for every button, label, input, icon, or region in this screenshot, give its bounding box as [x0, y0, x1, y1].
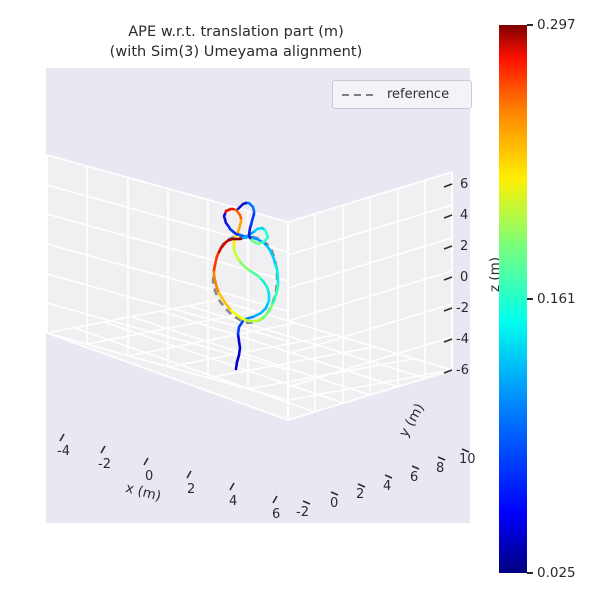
z-tick-label-4: -2 [456, 301, 469, 316]
y-tick-label-5: 8 [436, 461, 444, 476]
z-tick-label-3: 0 [460, 270, 468, 285]
figure-canvas: APE w.r.t. translation part (m) (with Si… [0, 0, 600, 600]
plot-title-line-2: (with Sim(3) Umeyama alignment) [0, 42, 472, 62]
y-tick-label-6: 10 [459, 452, 476, 467]
y-tick-label-2: 2 [356, 487, 364, 502]
z-tick-label-6: -6 [456, 363, 469, 378]
x-tick-label-0: -4 [57, 444, 70, 459]
y-tick-label-0: -2 [296, 505, 309, 520]
colorbar-tick-dash-icon [527, 298, 533, 299]
plot-title-line-1: APE w.r.t. translation part (m) [0, 22, 472, 42]
colorbar-tick-dash-icon [527, 24, 533, 25]
x-tick-label-2: 0 [145, 469, 153, 484]
colorbar-gradient [499, 25, 527, 573]
colorbar-tick-min: 0.025 [527, 565, 576, 581]
x-tick-label-5: 6 [272, 507, 280, 522]
y-tick-label-3: 4 [383, 479, 391, 494]
colorbar-tick-max: 0.297 [527, 17, 576, 33]
colorbar-tick-value-max: 0.297 [537, 17, 576, 33]
x-tick-label-4: 4 [229, 494, 237, 509]
x-tick-label-1: -2 [98, 457, 111, 472]
y-tick-label-4: 6 [410, 470, 418, 485]
legend-dashed-line-icon [342, 94, 376, 96]
legend-item-label: reference [387, 87, 449, 102]
z-tick-label-0: 6 [460, 177, 468, 192]
y-tick-label-1: 0 [330, 496, 338, 511]
z-tick-label-1: 4 [460, 208, 468, 223]
plot-title: APE w.r.t. translation part (m) (with Si… [0, 22, 472, 62]
z-tick-label-5: -4 [456, 332, 469, 347]
colorbar-tick-dash-icon [527, 572, 533, 573]
colorbar-tick-mid: 0.161 [527, 291, 576, 307]
colorbar-tick-value-min: 0.025 [537, 565, 576, 581]
colorbar-tick-value-mid: 0.161 [537, 291, 576, 307]
x-tick-label-3: 2 [187, 482, 195, 497]
colorbar[interactable]: 0.297 0.161 0.025 [499, 25, 527, 573]
legend[interactable]: reference [332, 80, 472, 109]
z-tick-label-2: 2 [460, 239, 468, 254]
